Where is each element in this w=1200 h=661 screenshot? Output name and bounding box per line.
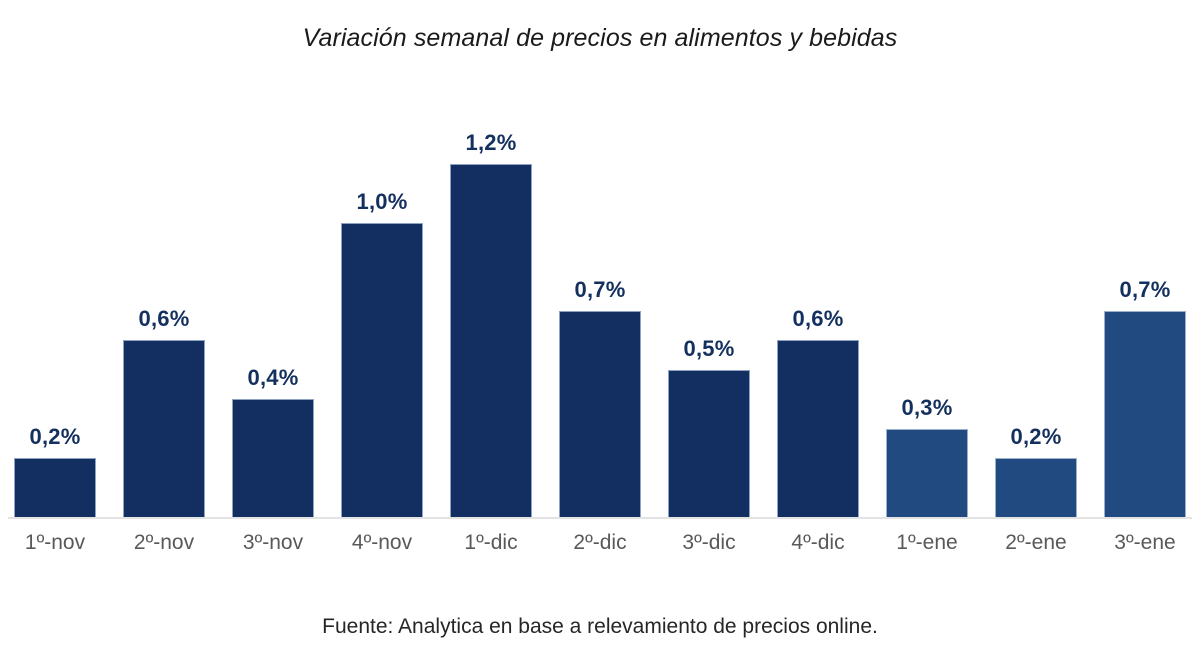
bar-rect[interactable] — [1104, 311, 1186, 517]
bar-group[interactable]: 0,7% — [559, 90, 641, 517]
bar-value-label: 0,5% — [684, 336, 735, 362]
x-axis-tick-label: 4º-nov — [341, 528, 423, 568]
bar-value-label: 1,2% — [466, 130, 517, 156]
bar-value-label: 0,3% — [902, 395, 953, 421]
bar-value-label: 1,0% — [357, 189, 408, 215]
chart-title: Variación semanal de precios en alimento… — [0, 22, 1200, 54]
bar-group[interactable]: 1,0% — [341, 90, 423, 517]
bar-value-label: 0,7% — [1120, 277, 1171, 303]
bar-rect[interactable] — [777, 340, 859, 517]
bar-rect[interactable] — [123, 340, 205, 517]
bar-group[interactable]: 0,2% — [995, 90, 1077, 517]
bar-rect[interactable] — [341, 223, 423, 517]
bar-value-label: 0,2% — [1011, 424, 1062, 450]
bar-group[interactable]: 0,2% — [14, 90, 96, 517]
bar-group[interactable]: 0,3% — [886, 90, 968, 517]
bar-rect[interactable] — [559, 311, 641, 517]
x-axis-tick-label: 1º-ene — [886, 528, 968, 568]
bar-value-label: 0,6% — [139, 306, 190, 332]
x-axis-tick-label: 2º-nov — [123, 528, 205, 568]
bar-group[interactable]: 0,7% — [1104, 90, 1186, 517]
bar-group[interactable]: 0,4% — [232, 90, 314, 517]
bar-series: 0,2%0,6%0,4%1,0%1,2%0,7%0,5%0,6%0,3%0,2%… — [0, 90, 1200, 517]
bar-group[interactable]: 0,5% — [668, 90, 750, 517]
bar-value-label: 0,4% — [248, 365, 299, 391]
bar-rect[interactable] — [668, 370, 750, 517]
x-axis-tick-label: 3º-nov — [232, 528, 314, 568]
bar-group[interactable]: 0,6% — [123, 90, 205, 517]
x-axis-tick-label: 3º-ene — [1104, 528, 1186, 568]
plot-area: 0,2%0,6%0,4%1,0%1,2%0,7%0,5%0,6%0,3%0,2%… — [0, 90, 1200, 518]
bar-value-label: 0,6% — [793, 306, 844, 332]
bar-rect[interactable] — [995, 458, 1077, 517]
x-axis-tick-label: 4º-dic — [777, 528, 859, 568]
bar-rect[interactable] — [14, 458, 96, 517]
x-axis-tick-labels: 1º-nov2º-nov3º-nov4º-nov1º-dic2º-dic3º-d… — [0, 528, 1200, 568]
x-axis-tick-label: 3º-dic — [668, 528, 750, 568]
bar-value-label: 0,7% — [575, 277, 626, 303]
bar-rect[interactable] — [886, 429, 968, 517]
x-axis-line — [8, 517, 1192, 519]
x-axis-tick-label: 1º-nov — [14, 528, 96, 568]
source-note: Fuente: Analytica en base a relevamiento… — [0, 612, 1200, 642]
bar-rect[interactable] — [450, 164, 532, 517]
bar-value-label: 0,2% — [30, 424, 81, 450]
bar-group[interactable]: 1,2% — [450, 90, 532, 517]
x-axis-tick-label: 1º-dic — [450, 528, 532, 568]
bar-group[interactable]: 0,6% — [777, 90, 859, 517]
chart-figure: Variación semanal de precios en alimento… — [0, 0, 1200, 661]
bar-rect[interactable] — [232, 399, 314, 517]
x-axis-tick-label: 2º-ene — [995, 528, 1077, 568]
x-axis-tick-label: 2º-dic — [559, 528, 641, 568]
